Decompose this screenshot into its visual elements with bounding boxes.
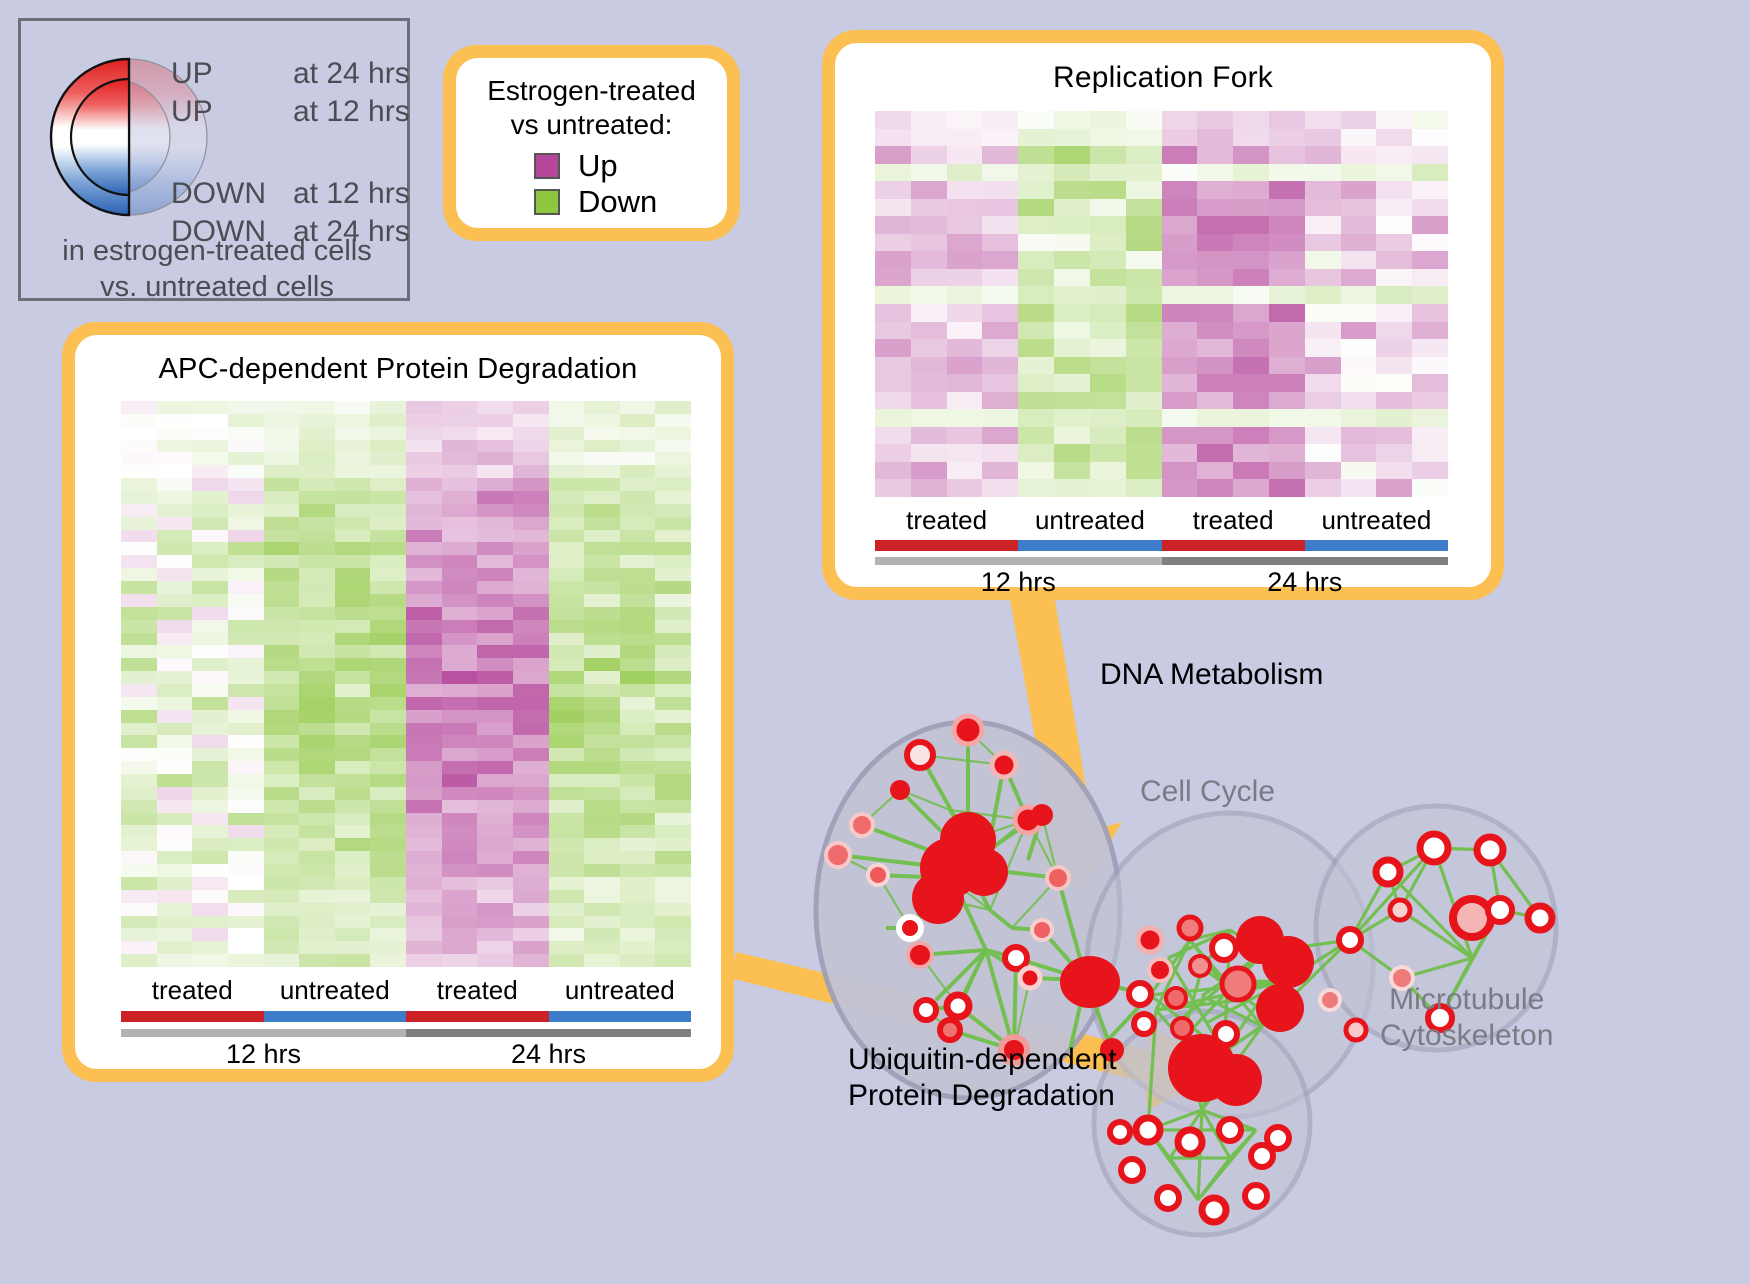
key-row-list: UP at 24 hrs UP at 12 hrs DOWN at 12 hrs…: [171, 57, 411, 253]
legend-title-line-1: Estrogen-treated: [456, 74, 727, 108]
key-direction: DOWN: [171, 177, 293, 211]
time-color-segment: [1162, 557, 1449, 565]
network-svg: [790, 610, 1750, 1279]
apc-group-labels: treateduntreatedtreateduntreated: [121, 975, 691, 1006]
apc-degradation-panel: APC-dependent Protein Degradation treate…: [62, 322, 734, 1082]
key-row: UP at 24 hrs: [171, 57, 411, 95]
key-timepoint: at 12 hrs: [293, 95, 410, 129]
time-label: 12 hrs: [121, 1039, 406, 1070]
expression-key-box: UP at 24 hrs UP at 12 hrs DOWN at 12 hrs…: [18, 18, 410, 301]
apc-group-colorbar: [121, 1011, 691, 1022]
group-label: untreated: [1018, 505, 1161, 536]
group-color-segment: [121, 1011, 264, 1022]
time-color-segment: [875, 557, 1162, 565]
group-color-segment: [264, 1011, 407, 1022]
legend-item-down: Down: [534, 184, 727, 220]
group-color-segment: [406, 1011, 549, 1022]
replication-fork-time-colorbar: [875, 557, 1448, 565]
cluster-label-dna-metabolism: DNA Metabolism: [1100, 658, 1323, 692]
group-label: treated: [1162, 505, 1305, 536]
key-timepoint: at 24 hrs: [293, 57, 410, 91]
legend-title: Estrogen-treated vs untreated:: [456, 74, 727, 142]
group-label: treated: [875, 505, 1018, 536]
key-timepoint: at 12 hrs: [293, 177, 410, 211]
legend-item-list: Up Down: [456, 148, 727, 220]
time-label: 12 hrs: [875, 567, 1162, 598]
legend-title-line-2: vs untreated:: [456, 108, 727, 142]
key-footer: in estrogen-treated cells vs. untreated …: [21, 233, 413, 305]
legend-label-down: Down: [578, 184, 657, 220]
legend-label-up: Up: [578, 148, 618, 184]
color-legend-panel: Estrogen-treated vs untreated: Up Down: [443, 45, 740, 241]
cluster-label-cell-cycle: Cell Cycle: [1140, 775, 1275, 809]
group-color-segment: [1162, 540, 1305, 551]
up-color-swatch: [534, 153, 560, 179]
cluster-label-ubiquitin-degradation: Ubiquitin-dependent Protein Degradation: [848, 1042, 1117, 1114]
group-label: treated: [121, 975, 264, 1006]
time-label: 24 hrs: [1162, 567, 1449, 598]
legend-item-up: Up: [534, 148, 727, 184]
replication-fork-heatmap: [875, 111, 1448, 497]
replication-fork-title: Replication Fork: [835, 43, 1491, 95]
time-color-segment: [121, 1029, 406, 1037]
key-footer-line-1: in estrogen-treated cells: [21, 233, 413, 269]
replication-fork-group-colorbar: [875, 540, 1448, 551]
time-color-segment: [406, 1029, 691, 1037]
apc-time-labels: 12 hrs24 hrs: [121, 1039, 691, 1070]
group-color-segment: [1018, 540, 1161, 551]
key-row: DOWN at 12 hrs: [171, 177, 411, 215]
key-footer-line-2: vs. untreated cells: [21, 269, 413, 305]
group-label: untreated: [1305, 505, 1448, 536]
replication-fork-panel: Replication Fork treateduntreatedtreated…: [822, 30, 1504, 600]
replication-fork-time-labels: 12 hrs24 hrs: [875, 567, 1448, 598]
key-row-spacer: [171, 133, 411, 177]
group-color-segment: [1305, 540, 1448, 551]
key-direction: UP: [171, 95, 293, 129]
replication-fork-group-labels: treateduntreatedtreateduntreated: [875, 505, 1448, 536]
apc-time-colorbar: [121, 1029, 691, 1037]
group-label: treated: [406, 975, 549, 1006]
down-color-swatch: [534, 189, 560, 215]
key-direction: UP: [171, 57, 293, 91]
key-row: UP at 12 hrs: [171, 95, 411, 133]
group-color-segment: [875, 540, 1018, 551]
group-label: untreated: [549, 975, 692, 1006]
cluster-label-microtubule-cytoskeleton: Microtubule Cytoskeleton: [1380, 982, 1553, 1054]
apc-panel-title: APC-dependent Protein Degradation: [75, 335, 721, 386]
time-label: 24 hrs: [406, 1039, 691, 1070]
group-label: untreated: [264, 975, 407, 1006]
group-color-segment: [549, 1011, 692, 1022]
apc-heatmap: [121, 401, 691, 967]
pathway-network-graph: DNA Metabolism Cell Cycle Microtubule Cy…: [790, 610, 1750, 1279]
